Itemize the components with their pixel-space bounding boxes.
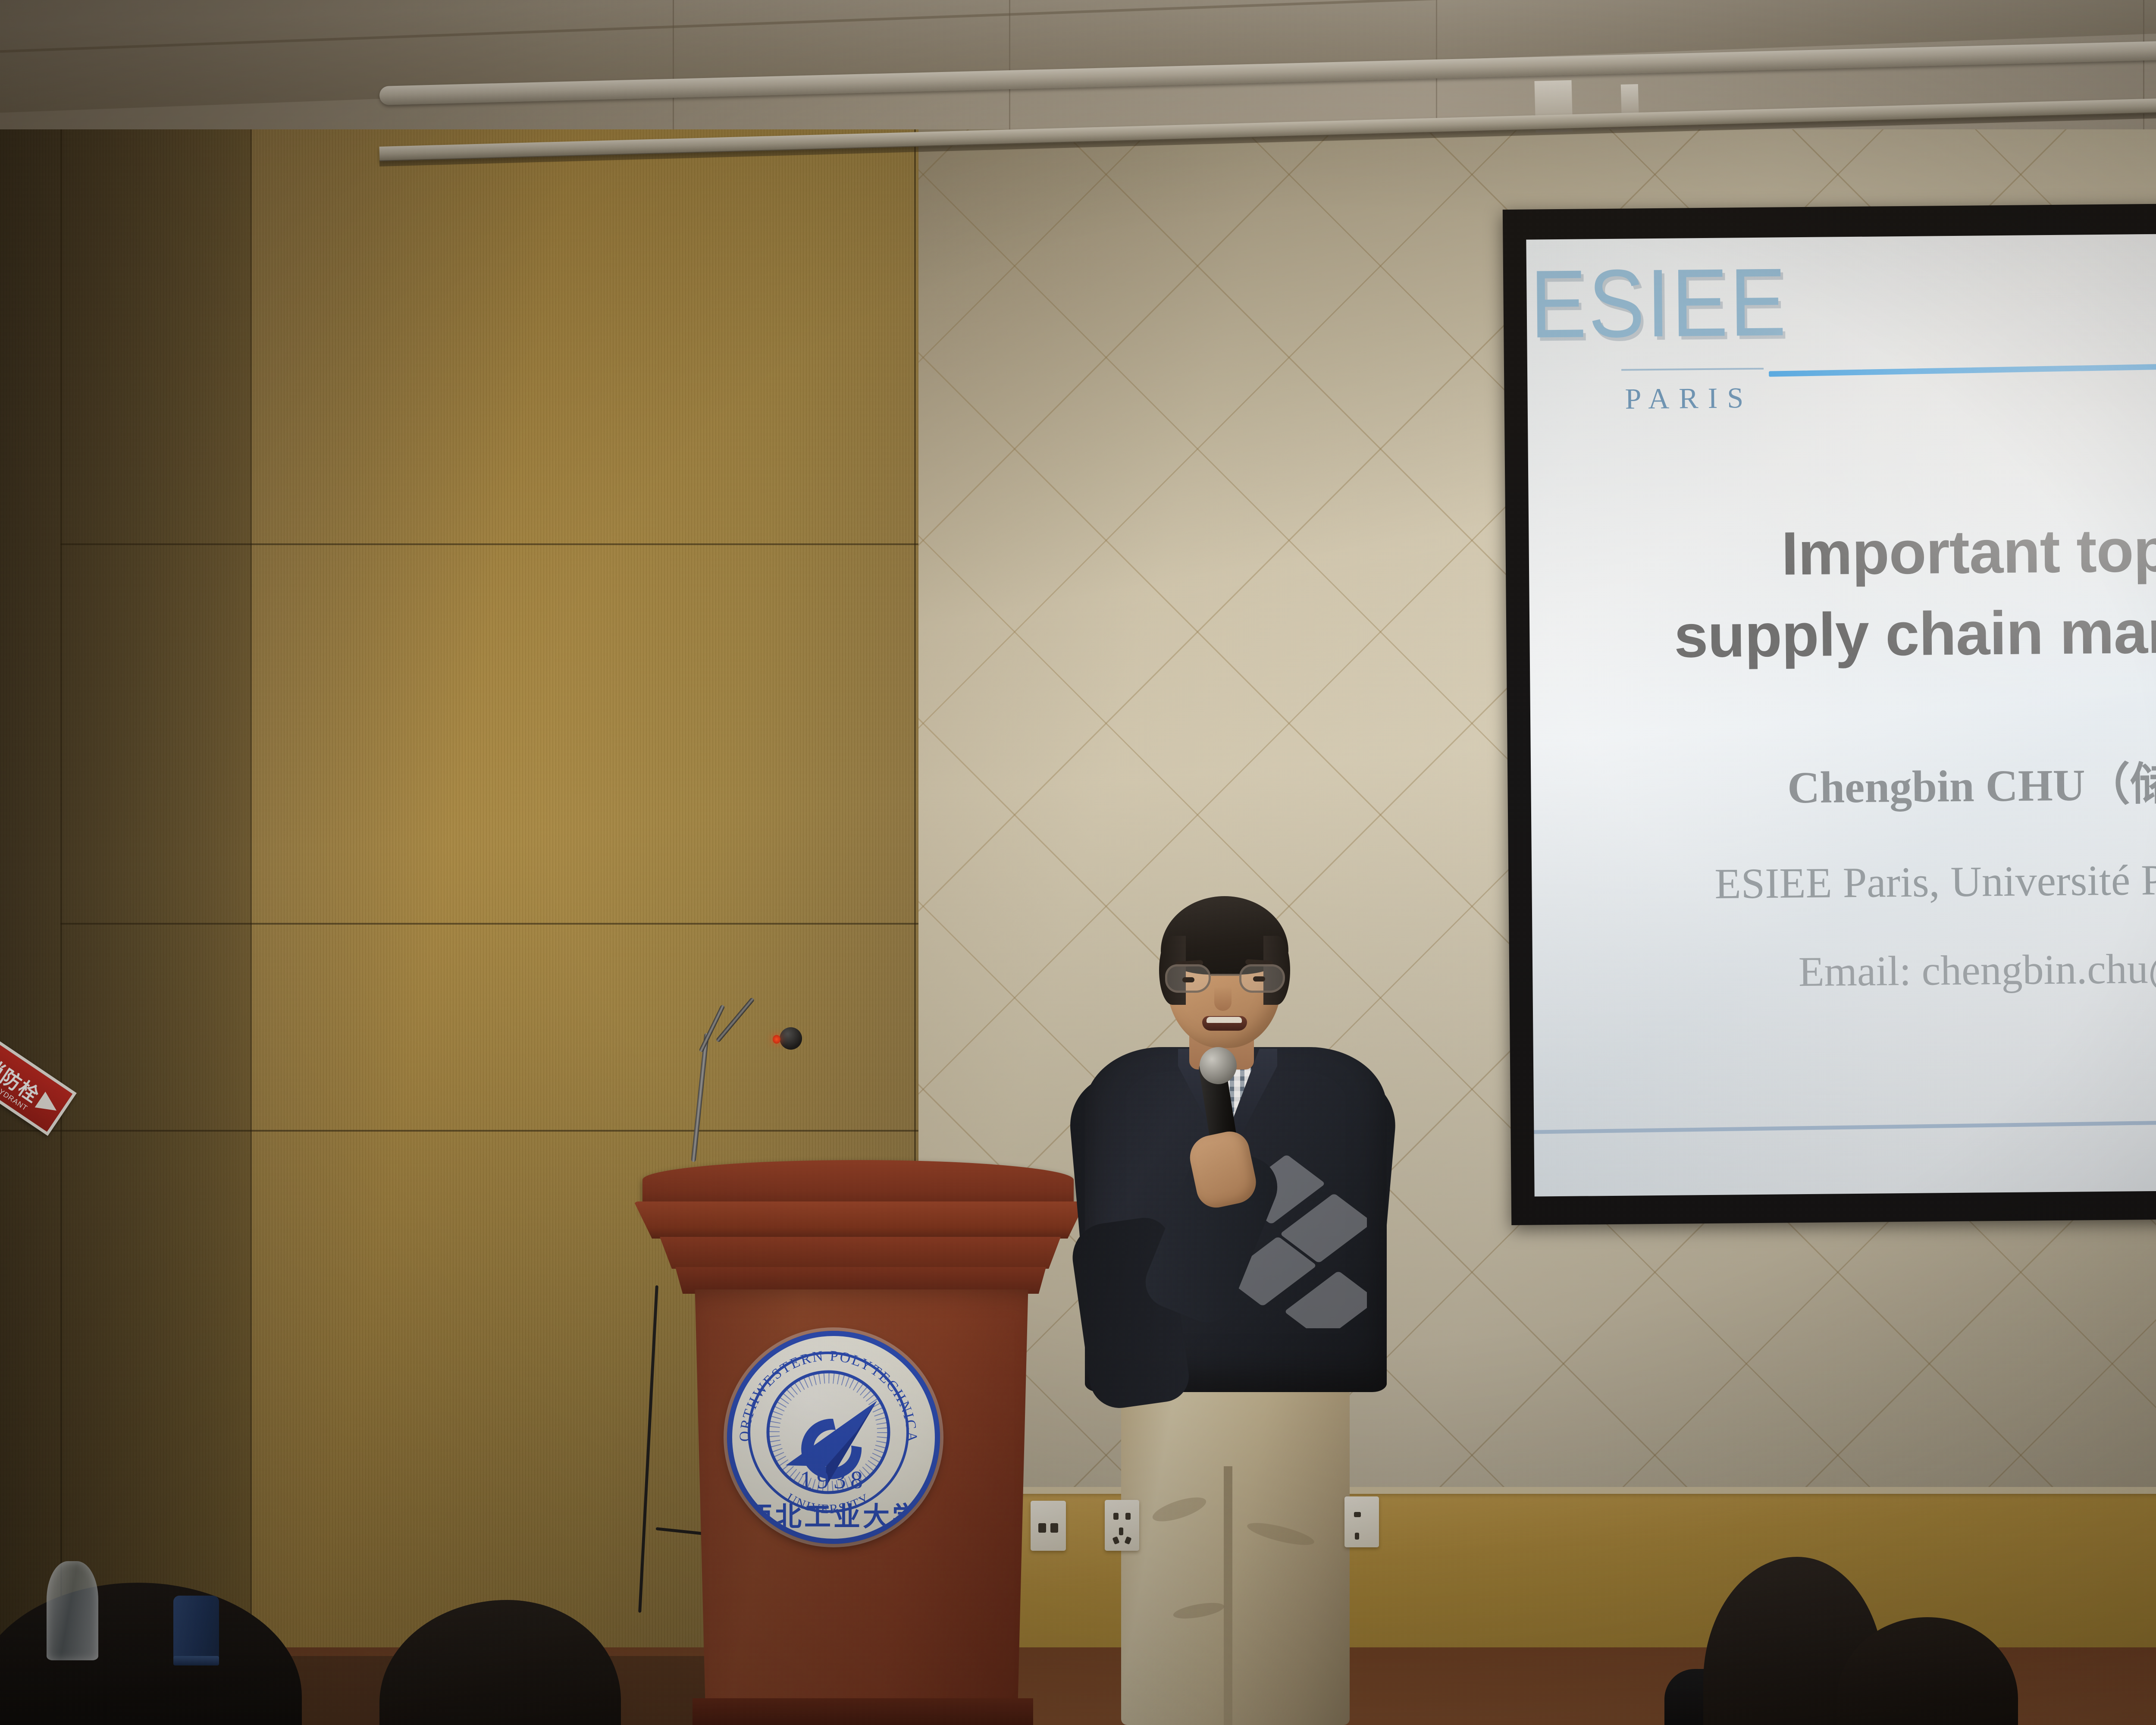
wood-panel-seam (250, 129, 252, 1725)
blue-bottle[interactable] (173, 1596, 219, 1665)
slide-footer-rule (1534, 1114, 2156, 1134)
power-outlet-plate[interactable] (1105, 1500, 1139, 1551)
emblem-chinese-name: 西北工业大学 (732, 1495, 935, 1534)
light-switch-plate[interactable] (1031, 1501, 1066, 1551)
gooseneck-microphone-capsule (780, 1027, 802, 1050)
wood-panel-seam (60, 129, 62, 1725)
speaker-leg-seam (1224, 1466, 1232, 1725)
glasses-bridge (1211, 974, 1239, 976)
wood-panel-seam (60, 923, 918, 925)
right-arrow-icon (35, 1091, 62, 1118)
speaker-eye (1253, 976, 1265, 982)
university-emblem: NORTHWESTERN POLYTECHNICAL UNIVERSITY 19… (727, 1331, 940, 1544)
lecture-hall-photo: 消防栓 FIRE HYDRANT ESIEE PARIS Important t… (0, 0, 2156, 1725)
slide-title: Important topics in supply chain managem… (1529, 506, 2156, 678)
wood-panel-seam (0, 1130, 918, 1132)
wood-panel-seam (60, 543, 918, 545)
esiee-logo-subtitle: PARIS (1625, 380, 1830, 416)
slide-email: Email: chengbin.chu@esiee.fr (1532, 941, 2156, 998)
wood-wall-shadow (0, 129, 250, 1725)
lectern-podium: NORTHWESTERN POLYTECHNICAL UNIVERSITY 19… (634, 1160, 1065, 1725)
slide-title-line-2: supply chain management (1529, 588, 2156, 678)
speaker-teeth (1206, 1017, 1242, 1023)
power-outlet-plate[interactable] (1344, 1496, 1379, 1547)
projected-slide: ESIEE PARIS Important topics in supply c… (1526, 230, 2156, 1197)
speaker-trousers (1121, 1367, 1350, 1725)
emblem-founding-year: 1938 (732, 1465, 935, 1494)
podium-lip (634, 1201, 1086, 1239)
esiee-wordmark: ESIEE (1526, 257, 1830, 349)
podium-base (693, 1698, 1033, 1725)
esiee-logo-rule (1621, 368, 1764, 371)
speaker (1065, 888, 1393, 1725)
slide-author: Chengbin CHU（储诚斌） (1531, 744, 2156, 818)
slide-title-line-1: Important topics in (1529, 506, 2156, 597)
speaker-eye (1182, 977, 1194, 982)
projection-screen: ESIEE PARIS Important topics in supply c… (1503, 200, 2156, 1225)
esiee-logo: ESIEE PARIS (1526, 257, 1830, 417)
speaker-nose (1214, 987, 1232, 1011)
blue-bottle-cap (173, 1656, 219, 1665)
slide-content: ESIEE PARIS Important topics in supply c… (1526, 230, 2156, 1197)
podium-moulding (660, 1237, 1061, 1269)
slide-affiliation: ESIEE Paris, Université Paris-Est, Franc… (1532, 851, 2156, 910)
microphone-status-led (773, 1035, 780, 1044)
water-bottle[interactable] (47, 1561, 98, 1660)
